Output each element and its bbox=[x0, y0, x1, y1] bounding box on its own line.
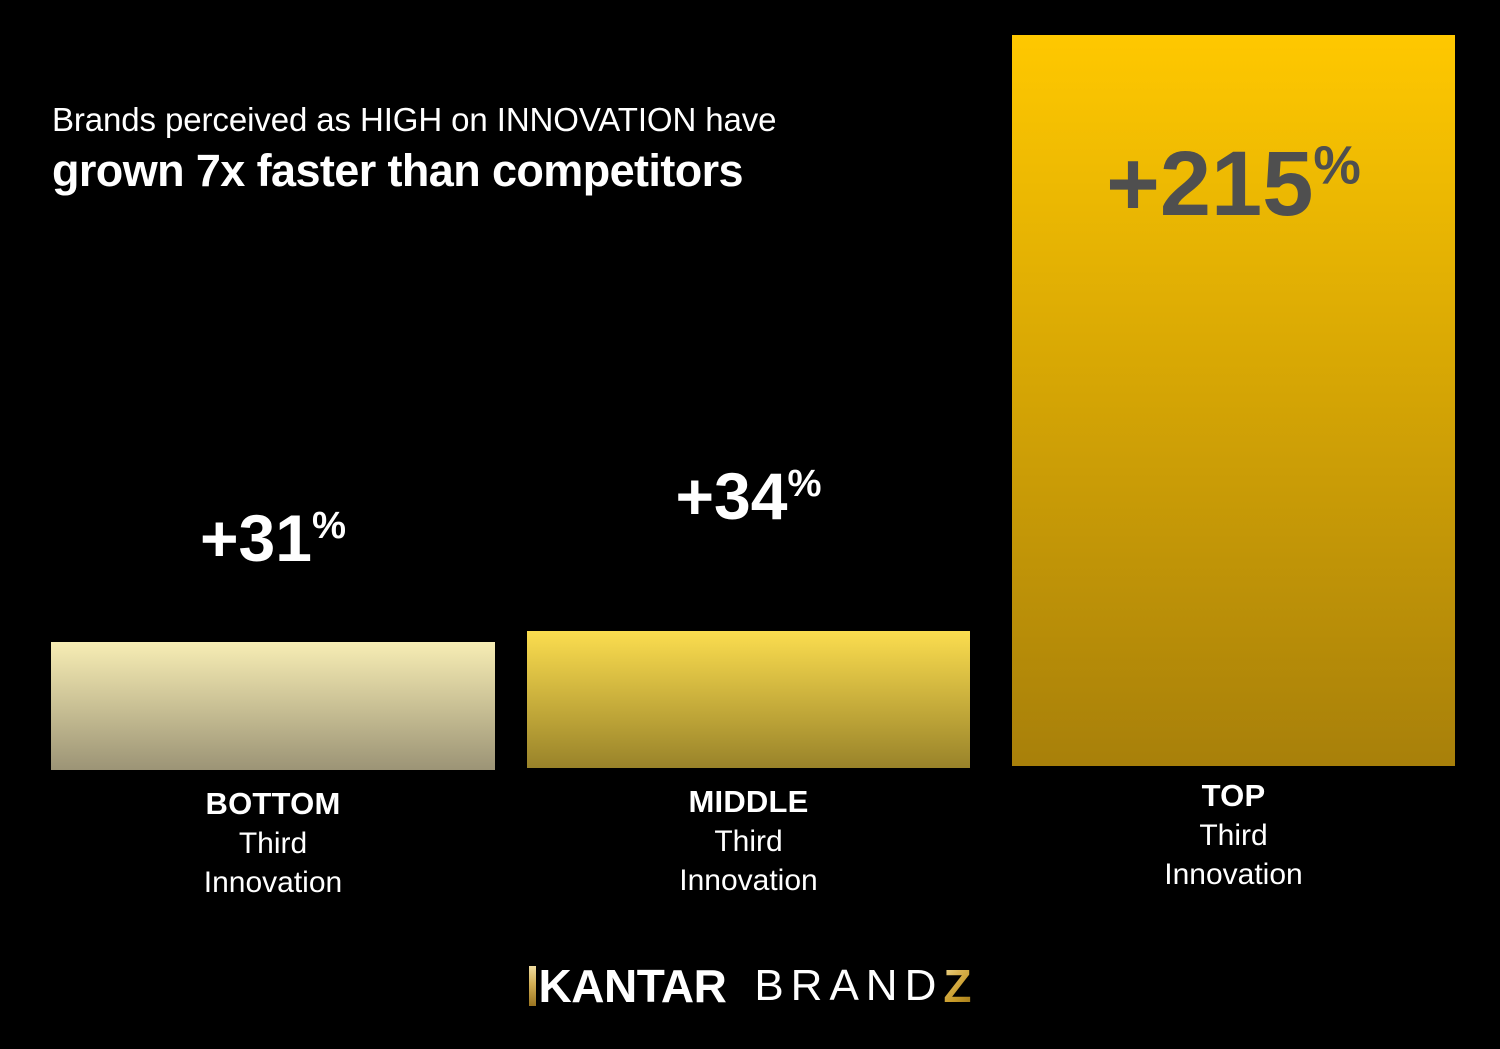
logo-gold-bar-icon bbox=[529, 966, 536, 1006]
value-number-middle: +34 bbox=[676, 459, 788, 533]
category-sub1-middle: Third bbox=[527, 822, 970, 862]
category-sub2-bottom: Innovation bbox=[51, 863, 495, 903]
logo-brand-wordmark: BRAND bbox=[754, 964, 943, 1008]
category-label-middle: MIDDLE Third Innovation bbox=[527, 783, 970, 901]
percent-sign-middle: % bbox=[787, 462, 821, 505]
value-label-top: +215% bbox=[1012, 138, 1455, 230]
chart-canvas: Brands perceived as HIGH on INNOVATION h… bbox=[0, 0, 1500, 1049]
category-label-top: TOP Third Innovation bbox=[1012, 777, 1455, 895]
bar-bottom-third bbox=[51, 642, 495, 770]
value-label-bottom: +31% bbox=[51, 505, 495, 571]
category-rank-middle: MIDDLE bbox=[527, 783, 970, 822]
percent-sign-top: % bbox=[1313, 136, 1360, 195]
category-sub2-middle: Innovation bbox=[527, 861, 970, 901]
category-label-bottom: BOTTOM Third Innovation bbox=[51, 785, 495, 903]
value-number-bottom: +31 bbox=[200, 501, 312, 575]
bar-middle-third bbox=[527, 631, 970, 768]
category-rank-bottom: BOTTOM bbox=[51, 785, 495, 824]
logo-z-letter: Z bbox=[943, 963, 971, 1009]
kantar-brandz-logo: KANTARBRANDZ bbox=[0, 963, 1500, 1009]
value-number-top: +215 bbox=[1106, 133, 1313, 235]
category-sub2-top: Innovation bbox=[1012, 855, 1455, 895]
headline-block: Brands perceived as HIGH on INNOVATION h… bbox=[52, 100, 1052, 197]
headline-line-1: Brands perceived as HIGH on INNOVATION h… bbox=[52, 100, 1052, 140]
logo-lockup: KANTARBRANDZ bbox=[529, 963, 972, 1009]
category-sub1-bottom: Third bbox=[51, 824, 495, 864]
headline-line-2: grown 7x faster than competitors bbox=[52, 144, 1052, 197]
logo-kantar-wordmark: KANTAR bbox=[539, 963, 727, 1009]
percent-sign-bottom: % bbox=[312, 504, 346, 547]
category-rank-top: TOP bbox=[1012, 777, 1455, 816]
category-sub1-top: Third bbox=[1012, 816, 1455, 856]
value-label-middle: +34% bbox=[527, 463, 970, 529]
